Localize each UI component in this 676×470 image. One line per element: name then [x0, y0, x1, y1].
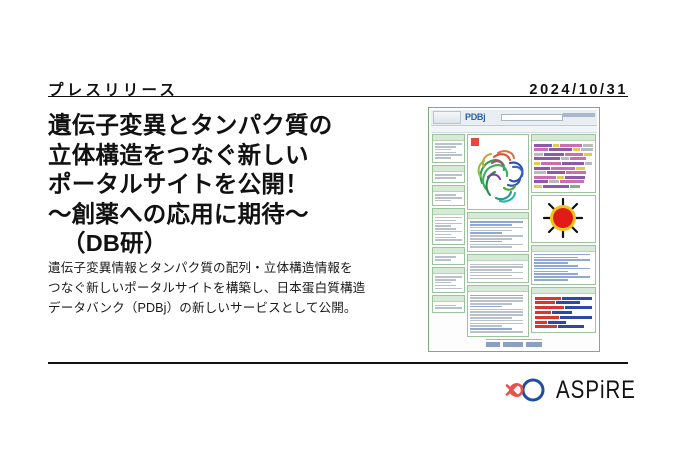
panel-body [532, 141, 595, 192]
site-header-links [563, 113, 595, 117]
panel-body [532, 252, 595, 284]
site-search-input [501, 114, 563, 121]
panel-body [468, 219, 528, 251]
summary-paragraph: 遺伝子変異情報とタンパク質の配列・立体構造情報を つなぐ新しいポータルサイトを構… [48, 258, 420, 318]
footer-links [486, 339, 542, 341]
sidebar-panel [432, 185, 465, 206]
sidebar-panel [432, 247, 465, 265]
headline: 遺伝子変異とタンパク質の 立体構造をつなぐ新しい ポータルサイトを公開！ 〜創薬… [48, 111, 408, 259]
panel-body [433, 215, 464, 244]
headline-line-2: 立体構造をつなぐ新しい [48, 141, 408, 171]
header: プレスリリース 2024/10/31 [48, 62, 628, 98]
panel-body [468, 292, 528, 335]
site-body [431, 134, 597, 349]
panel-body [433, 302, 464, 312]
panel-body [433, 274, 464, 292]
protein-ribbon-graphic [474, 143, 529, 205]
sidebar-panel [432, 267, 465, 293]
footer-divider [48, 362, 628, 364]
info-panel [467, 212, 529, 252]
headline-line-1: 遺伝子変異とタンパク質の [48, 111, 408, 141]
sidebar-panel [432, 208, 465, 245]
aspire-logo: ASPiRE [505, 374, 630, 406]
pdbj-screenshot-thumbnail: PDBj [428, 107, 600, 352]
text-panel [467, 285, 529, 336]
aspire-wordmark: ASPiRE [556, 378, 636, 403]
links-panel [531, 245, 596, 285]
site-main-column [467, 134, 529, 339]
aspire-infinity-circle-mark [505, 377, 549, 403]
panel-body [468, 261, 528, 282]
site-header: PDBj [431, 110, 597, 126]
footer-logo [526, 342, 542, 347]
structure-viewer[interactable] [467, 134, 529, 210]
summary-line-2: つなぐ新しいポータルサイトを構築し、日本蛋白質構造 [48, 278, 420, 298]
footer-logos [431, 342, 597, 347]
pdbj-logo: PDBj [465, 113, 485, 122]
site-footer [431, 337, 597, 348]
header-divider [48, 96, 628, 97]
panel-body [433, 172, 464, 182]
summary-line-1: 遺伝子変異情報とタンパク質の配列・立体構造情報を [48, 258, 420, 278]
sequence-alignment-panel [531, 134, 596, 193]
summary-line-3: データバンク（PDBj）の新しいサービスとして公開。 [48, 298, 420, 318]
headline-line-4: 〜創薬への応用に期待〜 [48, 200, 408, 230]
headline-line-5: （DB研） [48, 229, 408, 259]
site-subnav [431, 126, 597, 133]
site-sidebar [432, 134, 465, 315]
panel-body [433, 192, 464, 205]
footer-logo [503, 342, 523, 347]
sidebar-panel [432, 295, 465, 313]
sunburst-graphic-panel [531, 195, 596, 243]
panel-body [433, 254, 464, 264]
footer-logo [486, 342, 500, 347]
site-toolbar-buttons [433, 111, 461, 124]
thumbnail-inner: PDBj [431, 110, 597, 349]
panel-body [433, 141, 464, 162]
variant-chart-panel [531, 287, 596, 333]
table-panel [467, 254, 529, 283]
headline-line-3: ポータルサイトを公開！ [48, 170, 408, 200]
sidebar-panel [432, 165, 465, 183]
panel-body [532, 294, 595, 332]
sidebar-panel [432, 134, 465, 163]
press-release-page: プレスリリース 2024/10/31 遺伝子変異とタンパク質の 立体構造をつなぐ… [0, 0, 676, 470]
sunburst-icon [532, 196, 595, 240]
site-right-column [531, 134, 596, 335]
